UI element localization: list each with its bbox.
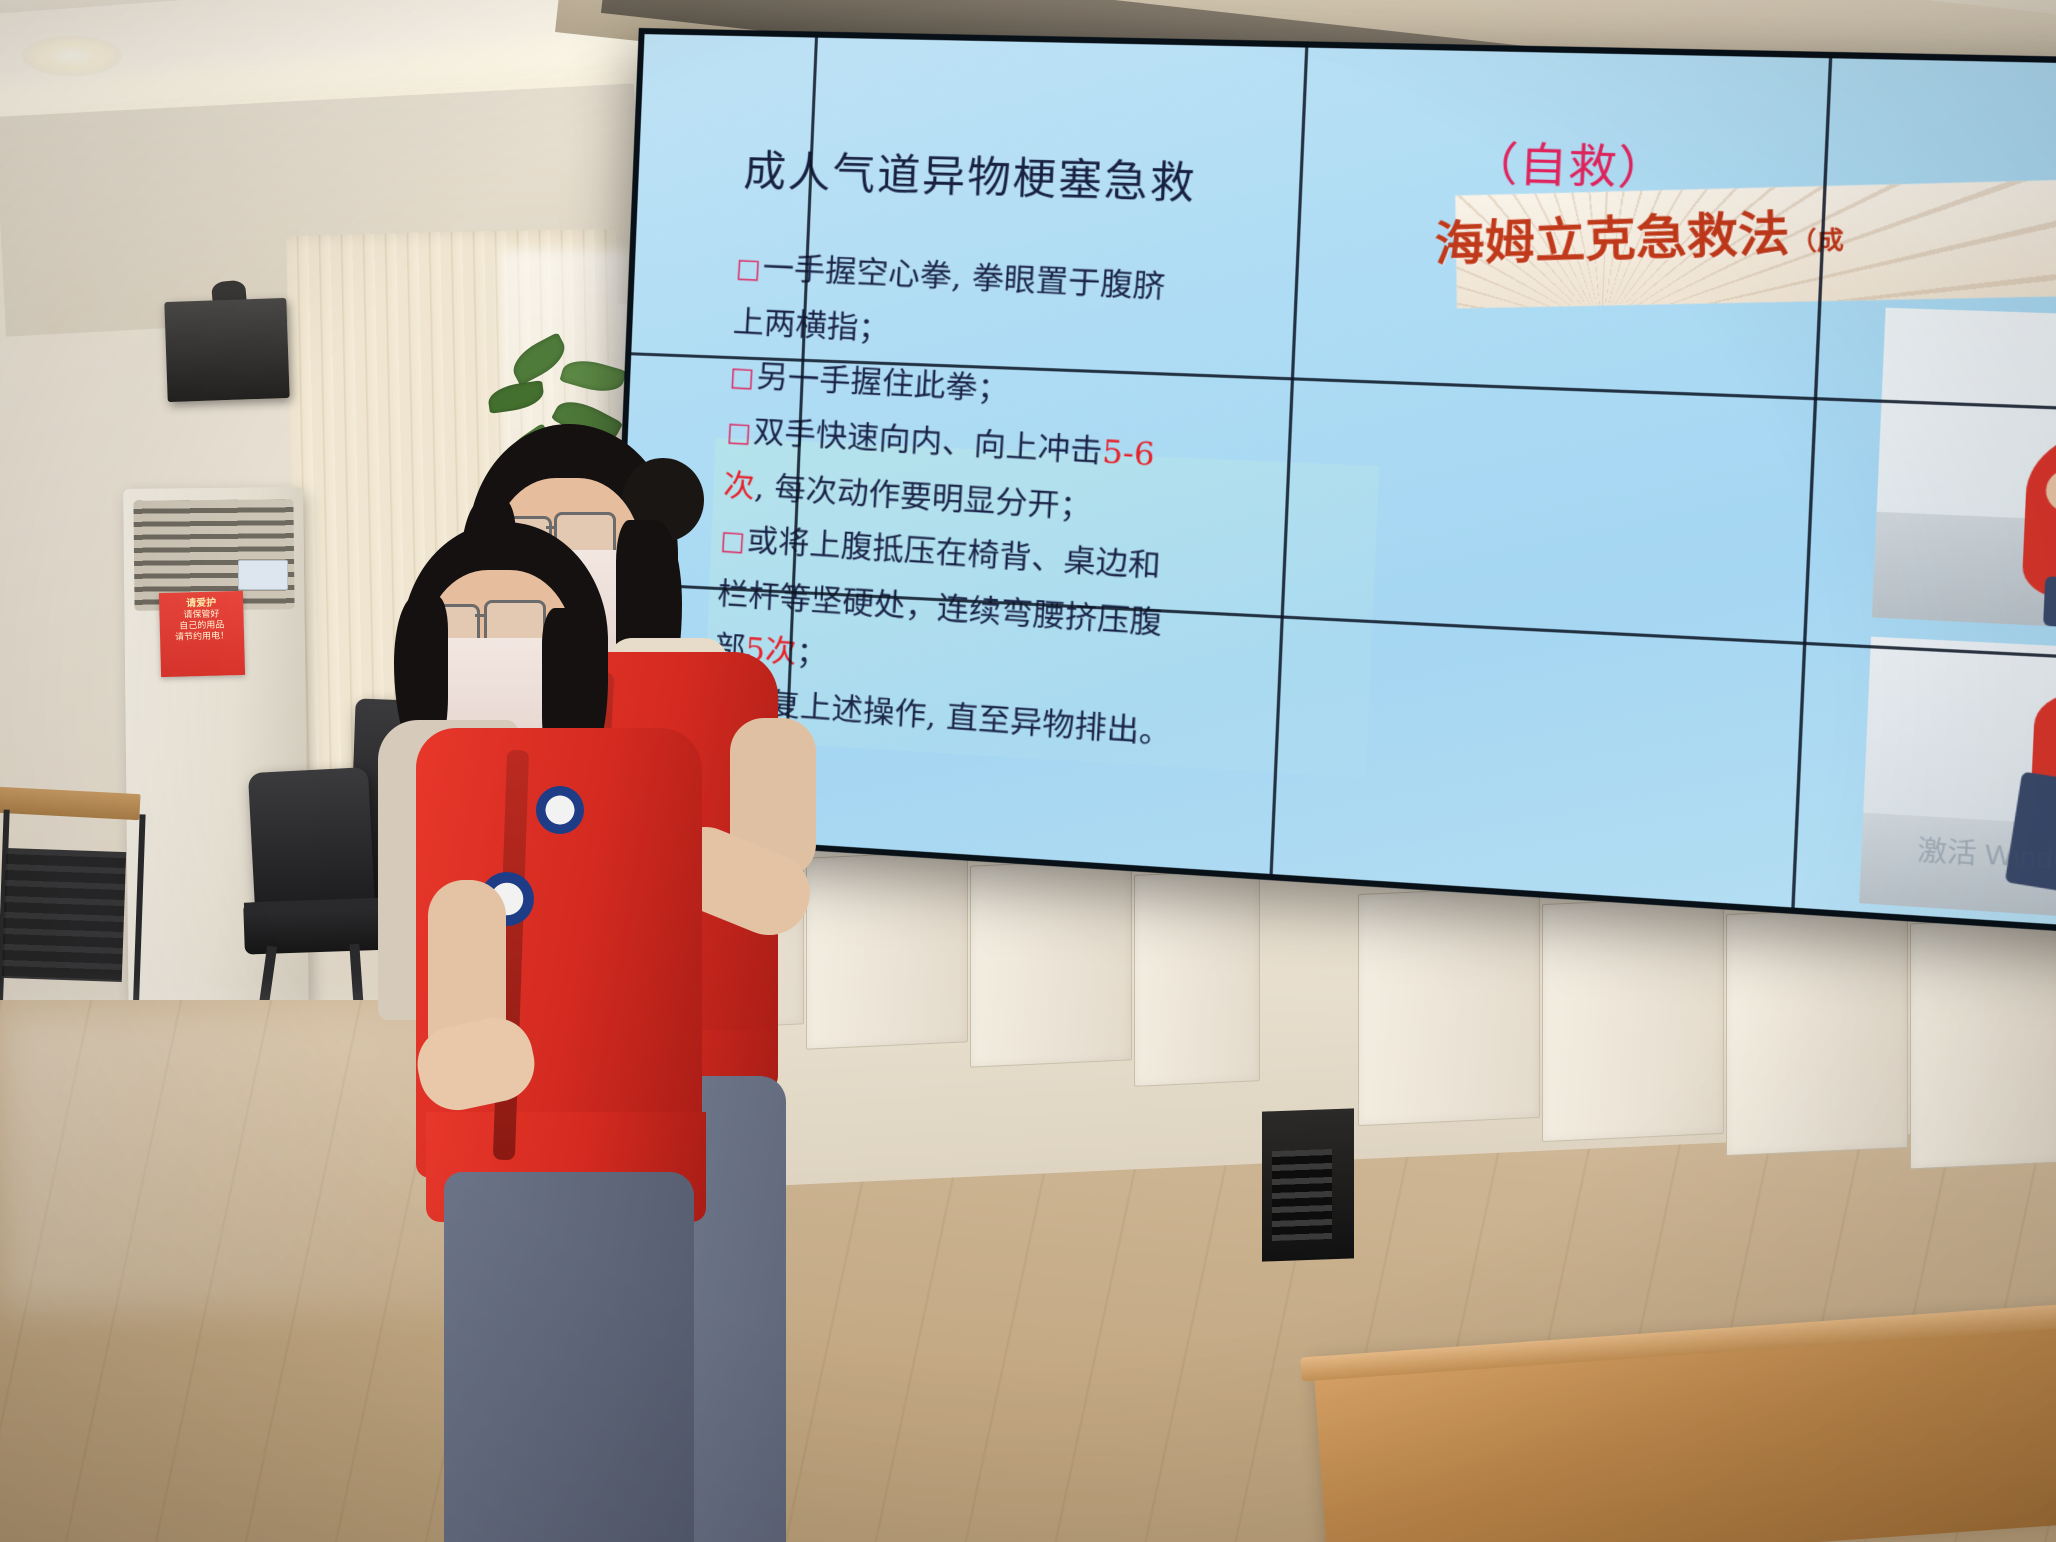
bullet-highlight: 5-6	[1101, 434, 1155, 474]
bullet-marker-icon: □	[735, 254, 761, 285]
slide-photo-chair-compression	[1859, 637, 2056, 930]
glasses-bridge	[475, 614, 485, 617]
folding-desk-panel	[2, 848, 126, 982]
slide-title-parenthetical: （自救）	[1469, 126, 1669, 198]
bullet-text: 一手握空心拳, 拳眼置于腹脐	[762, 250, 1166, 306]
cabinet-door[interactable]	[1134, 869, 1260, 1087]
cabinet-door[interactable]	[1910, 917, 2056, 1170]
bullet-marker-icon: □	[729, 362, 755, 394]
downlight-icon	[22, 36, 122, 76]
notice-poster: 请爱护 请保管好 自己的用品 请节约用电！	[159, 591, 245, 677]
person-presenter-front	[372, 512, 772, 1542]
notice-poster-line-3: 请节约用电！	[175, 630, 229, 641]
banner-suffix: （成	[1789, 224, 1844, 256]
cabinet-door[interactable]	[1358, 886, 1540, 1126]
notice-poster-line-1: 请保管好	[183, 609, 219, 620]
bullet-text: 上两横指；	[732, 304, 891, 348]
cabinet-equipment	[1272, 1149, 1332, 1241]
photo-scene: 请爱护 请保管好 自己的用品 请节约用电！ 成人气道异物梗塞急救 （自救）	[0, 0, 2056, 1542]
jeans	[444, 1172, 694, 1542]
banner-main: 海姆立克急救法	[1434, 205, 1790, 273]
vest-emblem	[536, 786, 584, 834]
cabinet-door[interactable]	[1726, 906, 1908, 1156]
cabinet-door[interactable]	[1542, 896, 1724, 1142]
slide-banner-text: 海姆立克急救法（成	[1434, 194, 1844, 276]
slide-photo-self-heimlich	[1872, 308, 2056, 642]
notice-poster-line-2: 自己的用品	[179, 619, 224, 630]
photo-jeans	[2043, 576, 2056, 635]
cabinet-door[interactable]	[970, 858, 1132, 1067]
wall-speaker	[164, 298, 289, 402]
air-conditioner-display-panel	[238, 560, 288, 590]
